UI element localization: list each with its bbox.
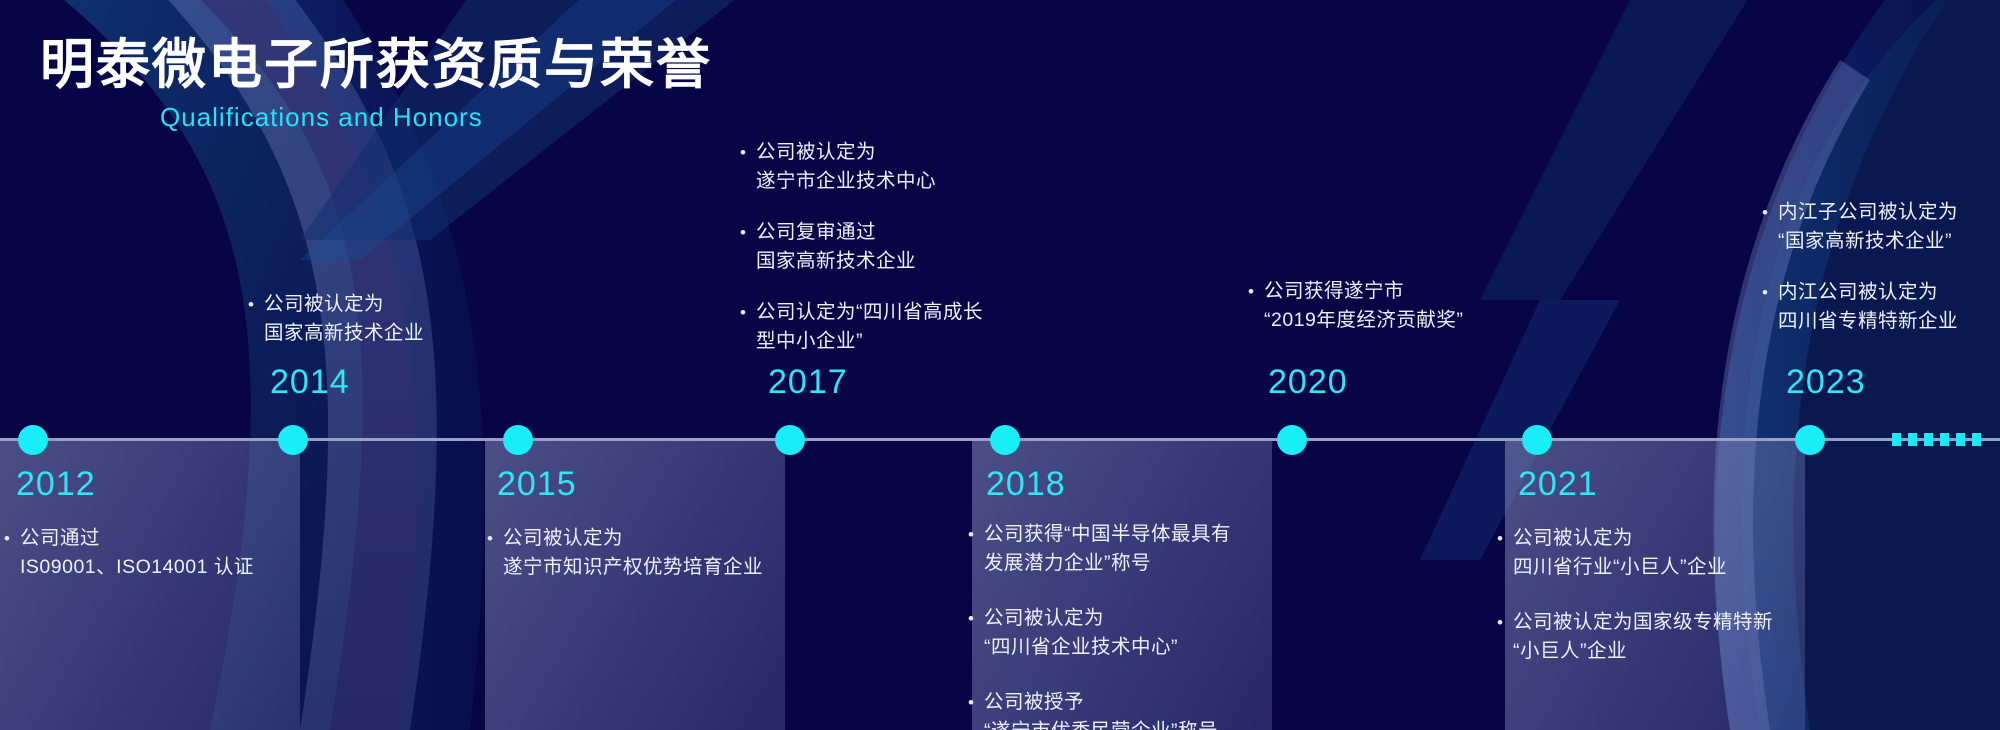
year-label-2021: 2021 xyxy=(1518,465,1598,504)
timeline-dot-2014[interactable] xyxy=(278,425,308,455)
list-item: • 公司获得“中国半导体最具有 发展潜力企业”称号 xyxy=(968,520,1268,578)
milestone-group-2017: • 公司被认定为 遂宁市企业技术中心 • 公司复审通过 国家高新技术企业 • 公… xyxy=(740,138,1060,356)
bullet-icon: • xyxy=(1762,198,1778,228)
milestone-text: 公司被认定为 国家高新技术企业 xyxy=(264,290,424,348)
timeline-dot-2023[interactable] xyxy=(1795,425,1825,455)
milestone-text: 公司被认定为 四川省行业“小巨人”企业 xyxy=(1513,524,1727,582)
milestone-text: 公司被认定为 “四川省企业技术中心” xyxy=(984,604,1178,662)
milestone-text: 公司被授予 “遂宁市优秀民营企业”称号 xyxy=(984,688,1218,730)
bullet-icon: • xyxy=(740,218,756,248)
milestone-text: 公司复审通过 国家高新技术企业 xyxy=(756,218,916,276)
timeline-dot-2018[interactable] xyxy=(990,425,1020,455)
milestone-group-2023: • 内江子公司被认定为 “国家高新技术企业” • 内江公司被认定为 四川省专精特… xyxy=(1762,198,2000,336)
milestone-group-2014: • 公司被认定为 国家高新技术企业 xyxy=(248,290,548,348)
list-item: • 公司被认定为 遂宁市知识产权优势培育企业 xyxy=(487,524,767,582)
milestone-text: 公司获得“中国半导体最具有 发展潜力企业”称号 xyxy=(984,520,1231,578)
list-item: • 公司被认定为 四川省行业“小巨人”企业 xyxy=(1497,524,1817,582)
milestone-group-2015: • 公司被认定为 遂宁市知识产权优势培育企业 xyxy=(487,524,767,608)
year-label-2015: 2015 xyxy=(497,465,577,504)
list-item: • 公司被认定为 “四川省企业技术中心” xyxy=(968,604,1268,662)
bullet-icon: • xyxy=(968,688,984,718)
timeline-dot-2015[interactable] xyxy=(503,425,533,455)
bullet-icon: • xyxy=(740,298,756,328)
year-label-2023: 2023 xyxy=(1786,363,1866,402)
bullet-icon: • xyxy=(968,520,984,550)
year-label-2017: 2017 xyxy=(768,363,848,402)
bullet-icon: • xyxy=(487,524,503,554)
milestone-group-2020: • 公司获得遂宁市 “2019年度经济贡献奖” xyxy=(1248,277,1568,335)
milestone-text: 内江子公司被认定为 “国家高新技术企业” xyxy=(1778,198,1958,256)
list-item: • 公司被认定为国家级专精特新 “小巨人”企业 xyxy=(1497,608,1817,666)
timeline-dot-2021[interactable] xyxy=(1522,425,1552,455)
year-label-2012: 2012 xyxy=(16,465,96,504)
milestone-text: 公司认定为“四川省高成长 型中小企业” xyxy=(756,298,983,356)
list-item: • 公司被认定为 遂宁市企业技术中心 xyxy=(740,138,1060,196)
milestone-text: 公司被认定为国家级专精特新 “小巨人”企业 xyxy=(1513,608,1773,666)
milestone-text: 公司获得遂宁市 “2019年度经济贡献奖” xyxy=(1264,277,1463,335)
milestone-text: 内江公司被认定为 四川省专精特新企业 xyxy=(1778,278,1958,336)
slide-canvas: 明泰微电子所获资质与荣誉 Qualifications and Honors 2… xyxy=(0,0,2000,730)
page-subtitle: Qualifications and Honors xyxy=(160,102,712,133)
list-item: • 公司获得遂宁市 “2019年度经济贡献奖” xyxy=(1248,277,1568,335)
year-label-2020: 2020 xyxy=(1268,363,1348,402)
milestone-text: 公司被认定为 遂宁市企业技术中心 xyxy=(756,138,936,196)
milestone-text: 公司被认定为 遂宁市知识产权优势培育企业 xyxy=(503,524,763,582)
timeline-dot-2012[interactable] xyxy=(18,425,48,455)
bullet-icon: • xyxy=(1497,608,1513,638)
header: 明泰微电子所获资质与荣誉 Qualifications and Honors xyxy=(40,36,712,133)
bullet-icon: • xyxy=(968,604,984,634)
milestone-group-2018: • 公司获得“中国半导体最具有 发展潜力企业”称号 • 公司被认定为 “四川省企… xyxy=(968,520,1268,730)
year-label-2014: 2014 xyxy=(270,363,350,402)
bullet-icon: • xyxy=(1248,277,1264,307)
list-item: • 公司认定为“四川省高成长 型中小企业” xyxy=(740,298,1060,356)
year-label-2018: 2018 xyxy=(986,465,1066,504)
bullet-icon: • xyxy=(740,138,756,168)
bullet-icon: • xyxy=(1762,278,1778,308)
list-item: • 内江子公司被认定为 “国家高新技术企业” xyxy=(1762,198,2000,256)
page-title: 明泰微电子所获资质与荣誉 xyxy=(40,36,712,94)
timeline-dot-2017[interactable] xyxy=(775,425,805,455)
bullet-icon: • xyxy=(248,290,264,320)
list-item: • 公司被认定为 国家高新技术企业 xyxy=(248,290,548,348)
list-item: • 公司通过 IS09001、ISO14001 认证 xyxy=(4,524,304,582)
milestone-group-2012: • 公司通过 IS09001、ISO14001 认证 xyxy=(4,524,304,608)
list-item: • 公司被授予 “遂宁市优秀民营企业”称号 xyxy=(968,688,1268,730)
timeline-axis-end-marks xyxy=(1892,433,1981,446)
milestone-text: 公司通过 IS09001、ISO14001 认证 xyxy=(20,524,254,582)
milestone-group-2021: • 公司被认定为 四川省行业“小巨人”企业 • 公司被认定为国家级专精特新 “小… xyxy=(1497,524,1817,692)
list-item: • 公司复审通过 国家高新技术企业 xyxy=(740,218,1060,276)
bullet-icon: • xyxy=(1497,524,1513,554)
bullet-icon: • xyxy=(4,524,20,554)
list-item: • 内江公司被认定为 四川省专精特新企业 xyxy=(1762,278,2000,336)
timeline-dot-2020[interactable] xyxy=(1277,425,1307,455)
